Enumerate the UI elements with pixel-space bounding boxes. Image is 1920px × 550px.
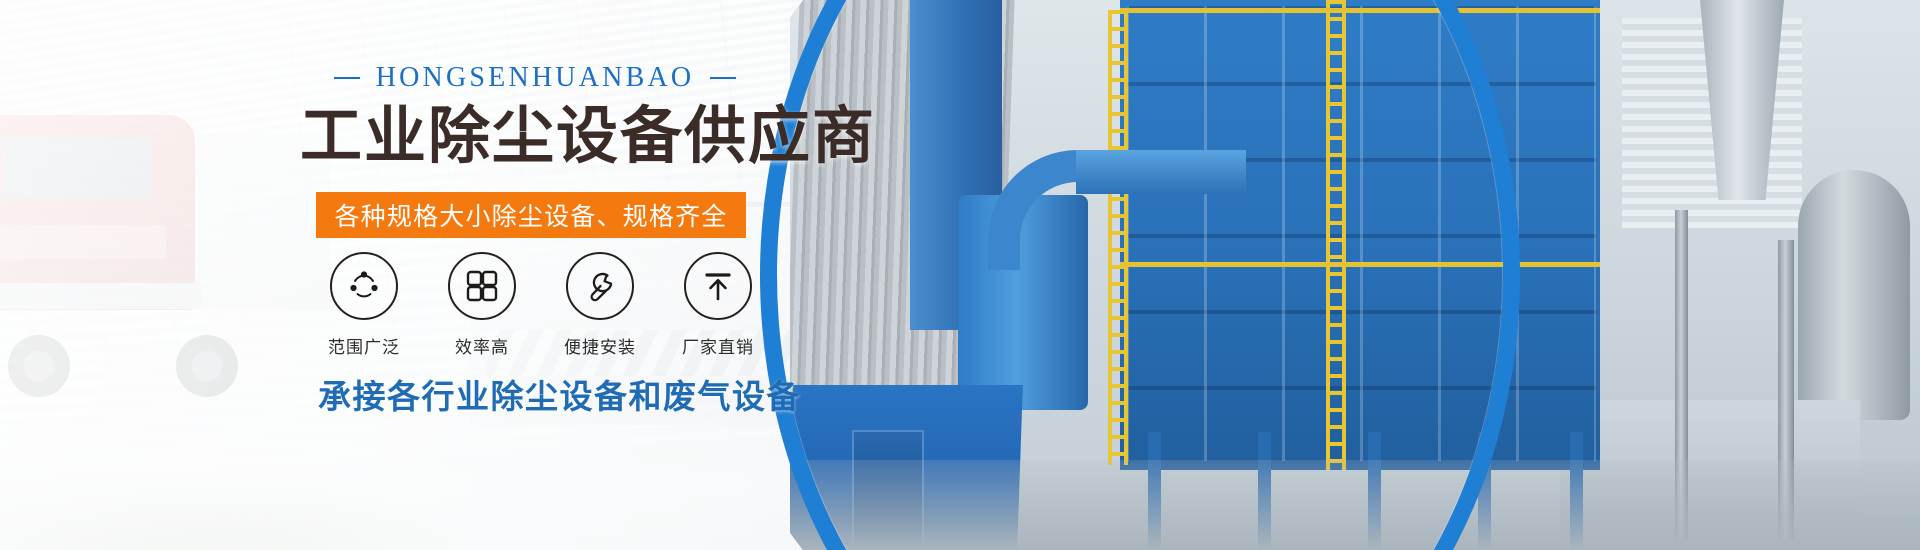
feature-label: 效率高 (455, 333, 509, 358)
brand-eyebrow: HONGSENHUANBAO (355, 62, 715, 94)
subtitle-text: 各种规格大小除尘设备、规格齐全 (334, 197, 727, 233)
wrench-icon (566, 252, 634, 320)
dash-left-icon (334, 77, 360, 79)
feature-label: 范围广泛 (328, 333, 400, 358)
hero-tagline: 承接各行业除尘设备和废气设备 (318, 370, 838, 418)
dash-right-icon (710, 77, 736, 79)
feature-label: 厂家直销 (682, 333, 754, 358)
feature-list: 范围广泛 效率高 (316, 252, 766, 358)
feature-item-range[interactable]: 范围广泛 (316, 252, 412, 358)
feature-item-factory-direct[interactable]: 厂家直销 (670, 252, 766, 358)
plant-tank (1798, 170, 1910, 420)
grid-four-icon (448, 252, 516, 320)
page-title: 工业除尘设备供应商 (300, 104, 820, 171)
feature-label: 便捷安装 (564, 333, 636, 358)
feature-item-install[interactable]: 便捷安装 (552, 252, 648, 358)
upload-arrow-icon (684, 252, 752, 320)
feature-item-efficiency[interactable]: 效率高 (434, 252, 530, 358)
subtitle-banner: 各种规格大小除尘设备、规格齐全 (316, 192, 746, 238)
brand-eyebrow-text: HONGSENHUANBAO (376, 62, 695, 94)
hero-content: HONGSENHUANBAO 工业除尘设备供应商 各种规格大小除尘设备、规格齐全 (0, 0, 900, 550)
hero-banner: HONGSENHUANBAO 工业除尘设备供应商 各种规格大小除尘设备、规格齐全 (0, 0, 1920, 550)
share-nodes-icon (330, 252, 398, 320)
